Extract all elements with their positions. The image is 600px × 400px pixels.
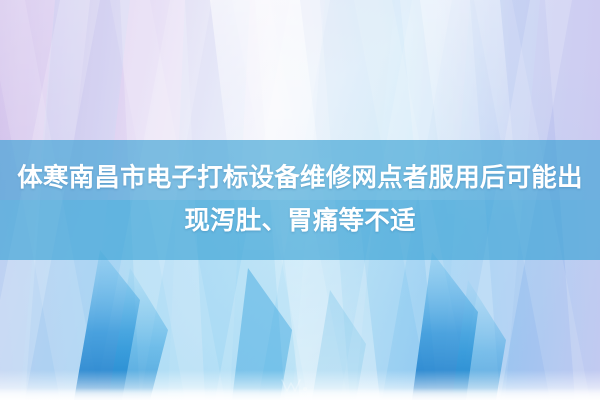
headline-line-2: 现泻肚、胃痛等不适 [184, 200, 415, 243]
headline-block: 体寒南昌市电子打标设备维修网点者服用后可能出 现泻肚、胃痛等不适 [0, 140, 600, 260]
banner-root: 体寒南昌市电子打标设备维修网点者服用后可能出 现泻肚、胃痛等不适 [0, 0, 600, 400]
headline-line-1: 体寒南昌市电子打标设备维修网点者服用后可能出 [17, 157, 582, 200]
